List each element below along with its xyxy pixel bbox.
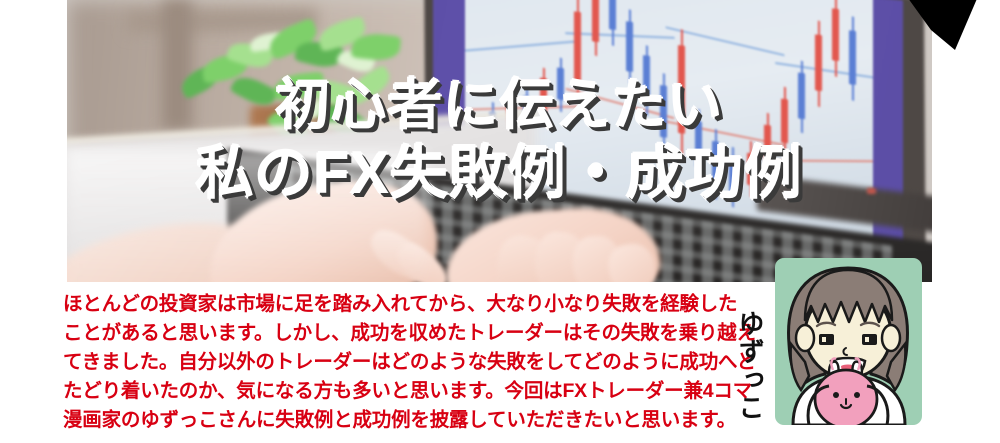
lead-line-3: てきました。自分以外のトレーダーはどのような失敗をしてどのように成功へと xyxy=(63,348,743,377)
lead-line-4: たどり着いたのか、気になる方も多いと思います。今回はFXトレーダー兼4コマ xyxy=(63,377,743,406)
lead-paragraph: ほとんどの投資家は市場に足を踏み入れてから、大なり小なり失敗を経験した ことがあ… xyxy=(63,290,743,435)
article-header-page: 初心者に伝えたい 私のFX失敗例・成功例 ほとんどの投資家は市場に足を踏み入れて… xyxy=(0,0,1000,443)
laptop-indicator-light xyxy=(867,188,876,194)
author-name: ゆずっこ xyxy=(737,310,763,422)
lead-line-5: 漫画家のゆずっこさんに失敗例と成功例を披露していただきたいと思います。 xyxy=(63,406,743,435)
author-avatar xyxy=(775,258,922,425)
hero-banner: 初心者に伝えたい 私のFX失敗例・成功例 xyxy=(67,0,932,282)
corner-arrow-icon xyxy=(903,0,981,56)
avatar-illustration-icon xyxy=(775,258,922,425)
lead-line-2: ことがあると思います。しかし、成功を収めたトレーダーはその失敗を乗り越え xyxy=(63,319,743,348)
photo-haze xyxy=(67,150,427,282)
hero-photo xyxy=(67,0,932,282)
lead-line-1: ほとんどの投資家は市場に足を踏み入れてから、大なり小なり失敗を経験した xyxy=(63,290,743,319)
